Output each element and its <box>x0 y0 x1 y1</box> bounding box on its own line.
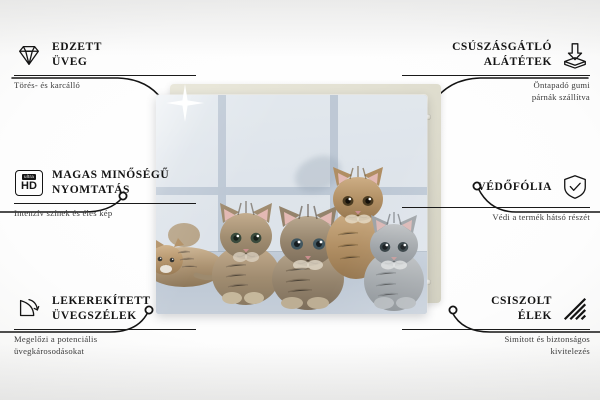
feature-subtitle: Öntapadó gumi párnák szállítva <box>384 80 590 103</box>
divider <box>14 203 196 204</box>
feature-subtitle: Védi a termék hátsó részét <box>384 212 590 224</box>
feature-subtitle: Simított és biztonságos kivitelezés <box>384 334 590 357</box>
feature-title: CSÚSZÁSGÁTLÓ ALÁTÉTEK <box>452 40 552 69</box>
feature-protective-film: VÉDŐFÓLIA Védi a termék hátsó részét <box>384 172 590 224</box>
divider <box>402 207 590 208</box>
shield-check-icon <box>560 172 590 202</box>
feature-polished-edges: CSISZOLT ÉLEK Simított és biztonságos ki… <box>384 294 590 357</box>
feature-title: EDZETT ÜVEG <box>52 40 102 69</box>
feature-title: CSISZOLT ÉLEK <box>491 294 552 323</box>
diamond-icon <box>14 40 44 70</box>
hatched-triangle-icon <box>560 294 590 324</box>
infographic-stage: EDZETT ÜVEG Törés- és karcálló ultra HD … <box>0 0 600 400</box>
divider <box>14 329 196 330</box>
feature-title: MAGAS MINŐSÉGŰ NYOMTATÁS <box>52 168 169 197</box>
arrow-onto-pad-icon <box>560 40 590 70</box>
feature-antislip-pads: CSÚSZÁSGÁTLÓ ALÁTÉTEK Öntapadó gumi párn… <box>384 40 590 103</box>
divider <box>14 75 196 76</box>
feature-tempered-glass: EDZETT ÜVEG Törés- és karcálló <box>14 40 214 92</box>
rounded-corner-icon <box>14 294 44 324</box>
ultra-hd-badge-icon: ultra HD <box>14 168 44 198</box>
feature-subtitle: Intenzív színek és éles kép <box>14 208 214 220</box>
feature-hd-print: ultra HD MAGAS MINŐSÉGŰ NYOMTATÁS Intenz… <box>14 168 214 220</box>
feature-title: LEKEREKÍTETT ÜVEGSZÉLEK <box>52 294 151 323</box>
feature-subtitle: Megelőzi a potenciális üvegkárosodásokat <box>14 334 214 357</box>
divider <box>402 75 590 76</box>
feature-title: VÉDŐFÓLIA <box>477 180 552 195</box>
feature-subtitle: Törés- és karcálló <box>14 80 214 92</box>
divider <box>402 329 590 330</box>
feature-rounded-edges: LEKEREKÍTETT ÜVEGSZÉLEK Megelőzi a poten… <box>14 294 214 357</box>
